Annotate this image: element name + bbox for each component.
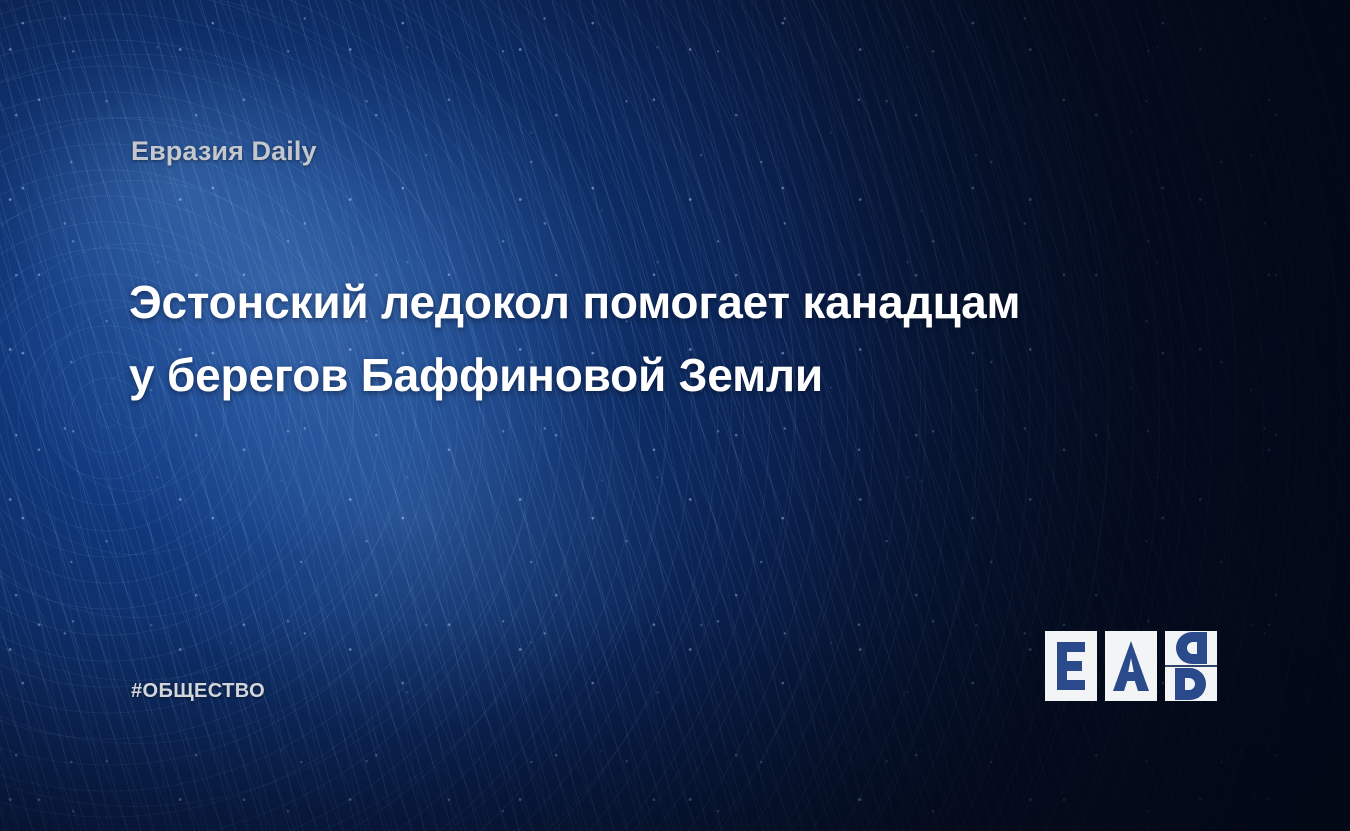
- share-card: Евразия Daily Эстонский ледокол помогает…: [0, 0, 1350, 831]
- eadaily-logo[interactable]: [1045, 631, 1225, 701]
- logo-tile-d: [1165, 631, 1217, 701]
- logo-tile-divider: [1165, 665, 1217, 667]
- logo-tile-a: [1105, 631, 1157, 701]
- brand-name: Евразия Daily: [131, 136, 317, 167]
- letter-e-icon: [1045, 631, 1097, 701]
- headline-line-1: Эстонский ледокол помогает канадцам: [129, 266, 1239, 339]
- headline-line-2: у берегов Баффиновой Земли: [129, 339, 1239, 412]
- card-content: Евразия Daily Эстонский ледокол помогает…: [0, 0, 1350, 831]
- page-title: Эстонский ледокол помогает канадцам у бе…: [129, 266, 1239, 412]
- letter-a-icon: [1105, 631, 1157, 701]
- category-hashtag[interactable]: #ОБЩЕСТВО: [131, 680, 265, 703]
- logo-tile-e: [1045, 631, 1097, 701]
